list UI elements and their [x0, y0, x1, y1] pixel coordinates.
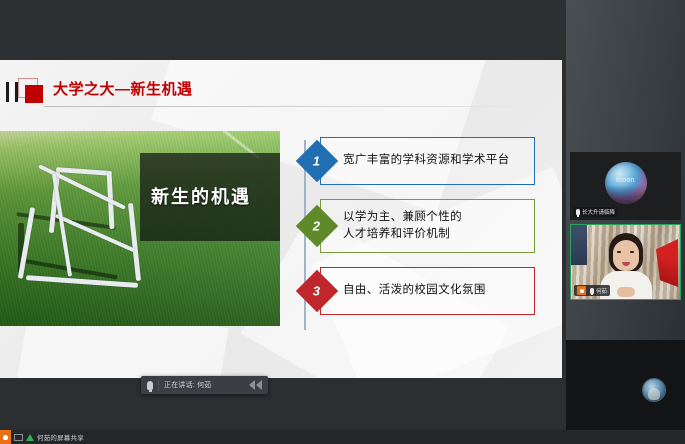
toolbar-divider — [158, 380, 159, 391]
avatar-label: moon — [605, 177, 647, 184]
share-toolbar[interactable]: 正在讲话: 何茹 — [141, 376, 268, 394]
photo-caption-text: 新生的机遇 — [151, 183, 251, 209]
statement-text-2: 以学为主、兼顾个性的 人才培养和评价机制 — [343, 209, 462, 244]
avatar: moon — [605, 162, 647, 204]
participant-name: 长大升请临降 — [582, 208, 615, 216]
statement-box-2: 2 以学为主、兼顾个性的 人才培养和评价机制 — [320, 199, 535, 253]
soccer-goal-icon — [22, 167, 152, 292]
title-divider — [44, 106, 536, 107]
microphone-icon[interactable] — [147, 381, 153, 390]
statement-box-3: 3 自由、活泼的校园文化氛围 — [320, 267, 535, 315]
status-bar: 何茹的屏幕共享 — [0, 430, 685, 444]
microphone-icon — [590, 288, 594, 294]
participant-tile-camera[interactable]: 何茹 — [570, 224, 681, 300]
microphone-icon — [576, 209, 580, 215]
host-person-icon — [577, 286, 586, 295]
statement-text-3: 自由、活泼的校园文化氛围 — [343, 282, 486, 299]
title-square-solid-icon — [25, 85, 43, 103]
screen-icon — [14, 434, 23, 441]
participant-nametag: 何茹 — [574, 285, 610, 296]
page-title: 大学之大—新生机遇 — [53, 78, 193, 99]
double-chevron-right-icon[interactable] — [249, 380, 262, 390]
video-participants-panel[interactable]: moon 长大升请临降 何茹 — [566, 0, 685, 444]
share-top-band — [0, 0, 566, 60]
share-bottom-band — [0, 378, 566, 430]
photo-caption-box: 新生的机遇 — [140, 153, 280, 241]
statement-text-1: 宽广丰富的学科资源和学术平台 — [343, 152, 510, 169]
self-avatar[interactable] — [643, 379, 665, 401]
zoom-meeting-window: 大学之大—新生机遇 — [0, 0, 685, 444]
speaking-status-label: 正在讲话: 何茹 — [164, 380, 212, 390]
participant-name: 何茹 — [596, 287, 607, 295]
participant-tile-avatar[interactable]: moon 长大升请临降 — [570, 152, 681, 220]
slide-title-row: 大学之大—新生机遇 — [0, 72, 562, 110]
statement-box-1: 1 宽广丰富的学科资源和学术平台 — [320, 137, 535, 185]
slide-photo: 新生的机遇 — [0, 131, 280, 326]
status-text: 何茹的屏幕共享 — [37, 432, 84, 442]
host-person-icon — [0, 430, 11, 444]
shared-slide[interactable]: 大学之大—新生机遇 — [0, 60, 562, 378]
participant-nametag: 长大升请临降 — [573, 207, 618, 217]
title-bar-marks-icon — [6, 82, 18, 102]
upload-triangle-icon — [26, 434, 34, 441]
